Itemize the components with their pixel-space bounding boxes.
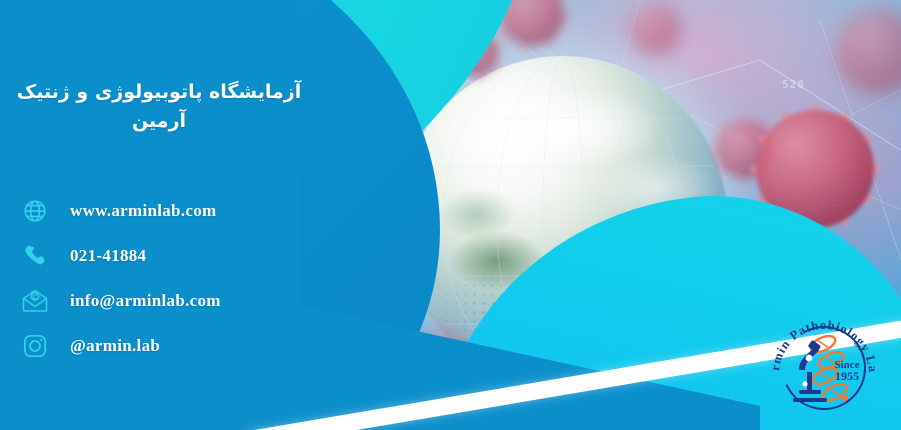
envelope-icon (18, 284, 52, 318)
banner-title: آزمایشگاه پاتوبیولوژی و ژنتیک آرمین (0, 78, 318, 137)
armin-lab-logo[interactable]: Armin Pathobiology Lab (765, 306, 883, 424)
contact-item-email[interactable]: info@arminlab.com (18, 278, 318, 323)
instagram-icon (18, 329, 52, 363)
instagram-label: @armin.lab (70, 336, 160, 356)
contact-item-instagram[interactable]: @armin.lab (18, 323, 318, 368)
virus-particle (836, 8, 901, 94)
phone-label: 021-41884 (70, 246, 146, 266)
phone-icon (18, 239, 52, 273)
promo-banner: 286,640 520 (0, 0, 901, 430)
logo-year-label: 1955 (835, 369, 859, 383)
contact-item-phone[interactable]: 021-41884 (18, 233, 318, 278)
globe-icon (18, 194, 52, 228)
virus-body (630, 4, 680, 54)
website-label: www.arminlab.com (70, 201, 216, 221)
contact-list: www.arminlab.com 021-41884 info@arminlab… (18, 188, 318, 368)
contact-item-website[interactable]: www.arminlab.com (18, 188, 318, 233)
email-label: info@arminlab.com (70, 291, 221, 311)
virus-particle (630, 4, 680, 54)
title-line-1: آزمایشگاه پاتوبیولوژی و ژنتیک (0, 78, 318, 107)
title-line-2: آرمین (0, 107, 318, 136)
